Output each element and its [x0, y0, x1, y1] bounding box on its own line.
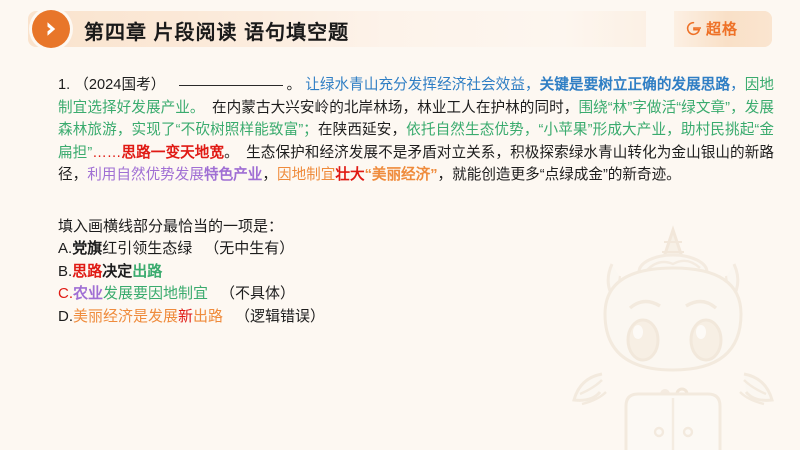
- g-logo-icon: [686, 21, 701, 36]
- passage-run: 利用自然优势发展: [87, 167, 204, 183]
- option-label: D.: [58, 308, 73, 325]
- option-label: B.: [58, 263, 72, 280]
- option-text-run: 农业: [73, 285, 103, 302]
- option-list: A.党旗红引领生态绿（无中生有）B.思路决定出路C.农业发展要因地制宜（不具体）…: [58, 238, 758, 328]
- question-content: 1. （2024国考）。 让绿水青山充分发挥经济社会效益，关键是要树立正确的发展…: [0, 58, 800, 450]
- option-text-run: 发展要因地制宜: [103, 285, 208, 302]
- passage-run: ，: [262, 167, 277, 183]
- passage-run: 壮大: [335, 167, 364, 183]
- passage-run: 在内蒙古大兴安岭的北岸林场，林业工人在护林的同时，: [197, 100, 578, 116]
- passage-run: ，: [730, 77, 745, 93]
- option-b[interactable]: B.思路决定出路: [58, 261, 758, 284]
- option-note: （逻辑错误）: [235, 308, 325, 325]
- blank-period: 。: [286, 77, 301, 93]
- passage-run: ……: [92, 145, 121, 161]
- answer-blank[interactable]: [179, 72, 283, 86]
- option-text-run: 新: [178, 308, 193, 325]
- passage-run: ，就能创造更多“点绿成金”的新奇迹。: [438, 167, 681, 183]
- chevron-right-icon: [32, 10, 70, 48]
- option-text-run: 思路: [72, 263, 102, 280]
- option-d[interactable]: D.美丽经济是发展新出路（逻辑错误）: [58, 306, 758, 329]
- option-text-run: 美丽经济是发展: [73, 308, 178, 325]
- option-a[interactable]: A.党旗红引领生态绿（无中生有）: [58, 238, 758, 261]
- question-number: 1.: [58, 77, 70, 93]
- option-text-run: 党旗: [72, 240, 102, 257]
- question-source: （2024国考）: [74, 77, 165, 93]
- brand-logo: 超格: [686, 18, 738, 39]
- brand-text: 超格: [706, 18, 738, 39]
- passage-run: 让绿水青山充分发挥经济社会效益，: [305, 77, 539, 93]
- passage-run: “美丽经济”: [365, 167, 438, 183]
- option-label: C.: [58, 285, 73, 302]
- passage-run: 特色产业: [204, 167, 262, 183]
- passage-run: 因地制宜: [277, 167, 335, 183]
- option-text-run: 决定: [102, 263, 132, 280]
- passage-run: 在陕西延安，: [318, 122, 406, 138]
- passage-run: 关键是要树立正确的发展思路: [540, 77, 730, 93]
- option-c[interactable]: C.农业发展要因地制宜（不具体）: [58, 283, 758, 306]
- passage-run: 思路一变天地宽: [121, 145, 224, 161]
- header-band-gap: [646, 11, 674, 47]
- passage-block: 1. （2024国考）。 让绿水青山充分发挥经济社会效益，关键是要树立正确的发展…: [58, 72, 774, 187]
- option-note: （无中生有）: [204, 240, 294, 257]
- page-title: 第四章 片段阅读 语句填空题: [84, 16, 349, 45]
- option-label: A.: [58, 240, 72, 257]
- option-text-run: 出路: [193, 308, 223, 325]
- question-prompt: 填入画横线部分最恰当的一项是：: [58, 216, 758, 238]
- option-text-run: 红引领生态绿: [102, 240, 192, 257]
- option-text-run: 出路: [132, 263, 162, 280]
- option-note: （不具体）: [220, 285, 295, 302]
- page-header: 第四章 片段阅读 语句填空题 超格: [0, 0, 800, 58]
